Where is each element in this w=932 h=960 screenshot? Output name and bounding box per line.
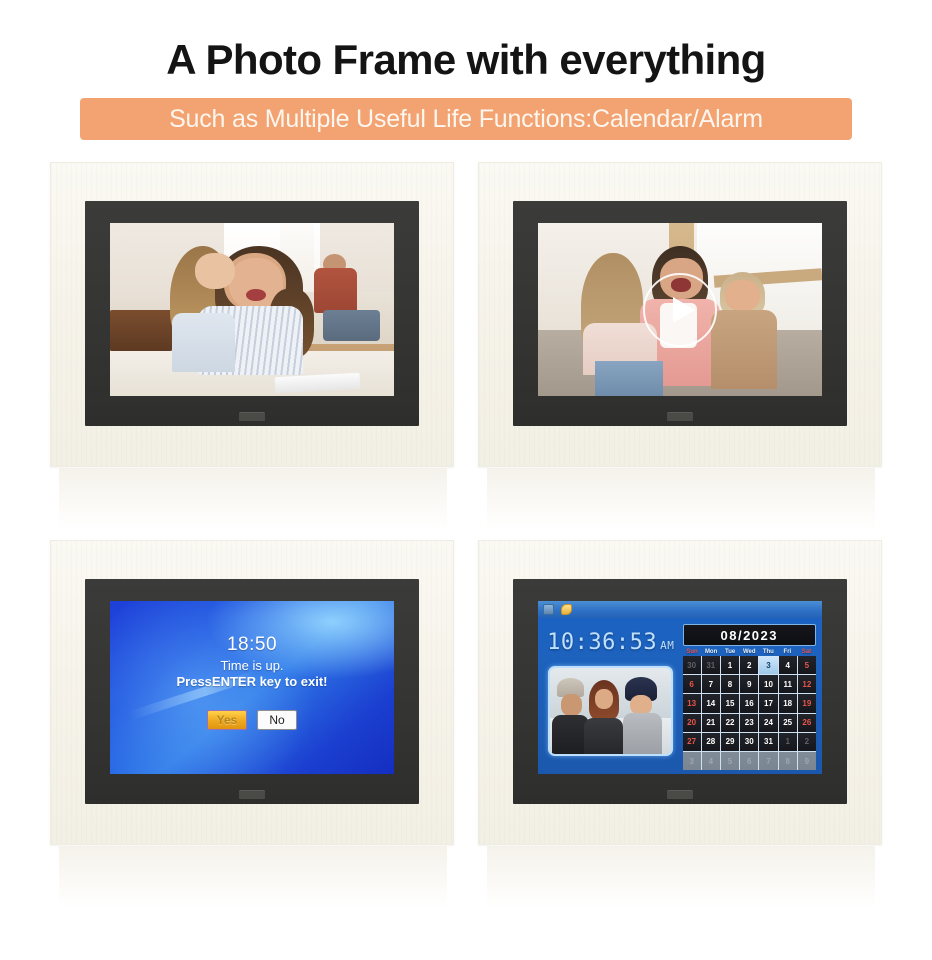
- mother-mouth-shape: [246, 289, 266, 301]
- calendar-day-cell[interactable]: 27: [683, 733, 701, 751]
- calendar-day-cell[interactable]: 24: [759, 714, 777, 732]
- calendar-day-cell[interactable]: 31: [759, 733, 777, 751]
- calendar-day-today[interactable]: 3: [759, 656, 777, 674]
- child-body-shape: [623, 713, 662, 754]
- frame-calendar[interactable]: 10:36:53AM: [478, 540, 882, 845]
- calendar-day-cell[interactable]: 12: [798, 675, 816, 693]
- calendar-left-pane: 10:36:53AM: [544, 624, 678, 770]
- frame-photo[interactable]: [50, 162, 454, 467]
- calendar-day-cell[interactable]: 31: [702, 656, 720, 674]
- calendar-day-cell[interactable]: 17: [759, 694, 777, 712]
- frame-sensor-button[interactable]: [239, 790, 265, 799]
- page-header: A Photo Frame with everything Such as Mu…: [0, 0, 932, 140]
- page-title: A Photo Frame with everything: [0, 38, 932, 82]
- frame-reflection: [487, 468, 875, 530]
- calendar-day-cell[interactable]: 2: [798, 733, 816, 751]
- mother-face-shape: [595, 689, 613, 710]
- clock-time: 10:36:53: [547, 630, 657, 655]
- frame-reflection: [487, 846, 875, 908]
- calendar-day-cell[interactable]: 25: [779, 714, 797, 732]
- calendar-day-cell[interactable]: 20: [683, 714, 701, 732]
- alarm-dialog: 18:50 Time is up. PressENTER key to exit…: [110, 601, 394, 774]
- subtitle-text: Such as Multiple Useful Life Functions:C…: [169, 105, 763, 134]
- calendar-clock: 10:36:53AM: [544, 624, 678, 655]
- display-screen-photo[interactable]: [110, 223, 394, 396]
- frame-sensor-button[interactable]: [239, 412, 265, 421]
- alarm-message-line1: Time is up.: [110, 658, 394, 673]
- calendar-dow-sun: Sun: [683, 649, 702, 655]
- man-legs-shape: [323, 310, 380, 341]
- alarm-message-line2: PressENTER key to exit!: [110, 674, 394, 689]
- calendar-dow-mon: Mon: [702, 649, 721, 655]
- calendar-day-cell[interactable]: 8: [779, 752, 797, 770]
- calendar-day-cell[interactable]: 19: [798, 694, 816, 712]
- calendar-day-cell[interactable]: 30: [740, 733, 758, 751]
- father-face-shape: [561, 694, 582, 716]
- calendar-day-cell[interactable]: 14: [702, 694, 720, 712]
- calendar-day-cell[interactable]: 11: [779, 675, 797, 693]
- calendar-day-cell[interactable]: 3: [683, 752, 701, 770]
- calendar-day-cell[interactable]: 6: [740, 752, 758, 770]
- girl-two-body-shape: [711, 310, 776, 390]
- calendar-dow-tue: Tue: [721, 649, 740, 655]
- calendar-day-cell[interactable]: 8: [721, 675, 739, 693]
- frame-sensor-button[interactable]: [667, 412, 693, 421]
- alarm-yes-button[interactable]: Yes: [207, 710, 247, 730]
- calendar-day-cell[interactable]: 10: [759, 675, 777, 693]
- frame-reflection: [59, 468, 447, 530]
- photo-content: [110, 223, 394, 396]
- play-icon[interactable]: [643, 273, 717, 347]
- calendar-day-cell[interactable]: 5: [798, 656, 816, 674]
- frame-reflection: [59, 846, 447, 908]
- mother-body-shape: [584, 718, 623, 754]
- calendar-dow-fri: Fri: [778, 649, 797, 655]
- play-triangle-glyph: [673, 297, 695, 323]
- subtitle-banner: Such as Multiple Useful Life Functions:C…: [80, 98, 852, 140]
- screen-bezel: 10:36:53AM: [513, 579, 847, 804]
- calendar-day-cell[interactable]: 1: [779, 733, 797, 751]
- product-frames-grid: 18:50 Time is up. PressENTER key to exit…: [0, 140, 932, 900]
- display-settings-icon[interactable]: [543, 604, 554, 615]
- calendar-day-cell[interactable]: 9: [798, 752, 816, 770]
- display-screen-video[interactable]: [538, 223, 822, 396]
- photo-frame-body: [478, 162, 882, 467]
- calendar-day-cell[interactable]: 6: [683, 675, 701, 693]
- photo-frame-body: 18:50 Time is up. PressENTER key to exit…: [50, 540, 454, 845]
- calendar-day-cell[interactable]: 1: [721, 656, 739, 674]
- calendar-photo-thumbnail[interactable]: [548, 666, 673, 756]
- calendar-titlebar: [538, 601, 822, 618]
- display-screen-alarm[interactable]: 18:50 Time is up. PressENTER key to exit…: [110, 601, 394, 774]
- calendar-dow-sat: Sat: [797, 649, 816, 655]
- calendar-day-cell[interactable]: 15: [721, 694, 739, 712]
- calendar-day-cell[interactable]: 5: [721, 752, 739, 770]
- alarm-button-row: Yes No: [110, 710, 394, 730]
- calendar-month-year[interactable]: 08/2023: [683, 624, 817, 646]
- calendar-day-cell[interactable]: 4: [702, 752, 720, 770]
- alarm-time: 18:50: [110, 634, 394, 656]
- frame-video[interactable]: [478, 162, 882, 467]
- alarm-no-button[interactable]: No: [257, 710, 297, 730]
- girl-body-shape: [172, 313, 234, 372]
- calendar-date-grid[interactable]: 3031123456789101112131415161718192021222…: [683, 656, 817, 770]
- chest-shape: [110, 310, 172, 352]
- calendar-day-cell[interactable]: 13: [683, 694, 701, 712]
- girl-face-shape: [195, 253, 235, 289]
- calendar-day-cell[interactable]: 7: [702, 675, 720, 693]
- calendar-right-pane: 08/2023 SunMonTueWedThuFriSat 3031123456…: [683, 624, 817, 770]
- calendar-day-cell[interactable]: 18: [779, 694, 797, 712]
- calendar-day-cell[interactable]: 28: [702, 733, 720, 751]
- screen-bezel: [85, 201, 419, 426]
- calendar-day-cell[interactable]: 30: [683, 656, 701, 674]
- calendar-day-cell[interactable]: 26: [798, 714, 816, 732]
- screen-bezel: [513, 201, 847, 426]
- calendar-day-cell[interactable]: 21: [702, 714, 720, 732]
- clock-meridiem: AM: [660, 639, 674, 652]
- photo-frame-body: [50, 162, 454, 467]
- calendar-dow-wed: Wed: [740, 649, 759, 655]
- calendar-day-cell[interactable]: 23: [740, 714, 758, 732]
- photo-frame-body: 10:36:53AM: [478, 540, 882, 845]
- calendar-day-cell[interactable]: 22: [721, 714, 739, 732]
- girl-two-face-shape: [725, 280, 759, 311]
- bell-icon[interactable]: [561, 604, 572, 615]
- man-body-shape: [314, 268, 357, 313]
- girl-one-jeans-shape: [595, 361, 663, 396]
- calendar-day-cell[interactable]: 9: [740, 675, 758, 693]
- calendar-day-cell[interactable]: 4: [779, 656, 797, 674]
- calendar-day-cell[interactable]: 2: [740, 656, 758, 674]
- calendar-dow-thu: Thu: [759, 649, 778, 655]
- display-screen-calendar[interactable]: 10:36:53AM: [538, 601, 822, 774]
- calendar-day-cell[interactable]: 7: [759, 752, 777, 770]
- calendar-body: 10:36:53AM: [538, 618, 822, 774]
- screen-bezel: 18:50 Time is up. PressENTER key to exit…: [85, 579, 419, 804]
- frame-sensor-button[interactable]: [667, 790, 693, 799]
- calendar-ui: 10:36:53AM: [538, 601, 822, 774]
- calendar-day-cell[interactable]: 29: [721, 733, 739, 751]
- frame-alarm[interactable]: 18:50 Time is up. PressENTER key to exit…: [50, 540, 454, 845]
- calendar-day-cell[interactable]: 16: [740, 694, 758, 712]
- calendar-day-headers: SunMonTueWedThuFriSat: [683, 649, 817, 655]
